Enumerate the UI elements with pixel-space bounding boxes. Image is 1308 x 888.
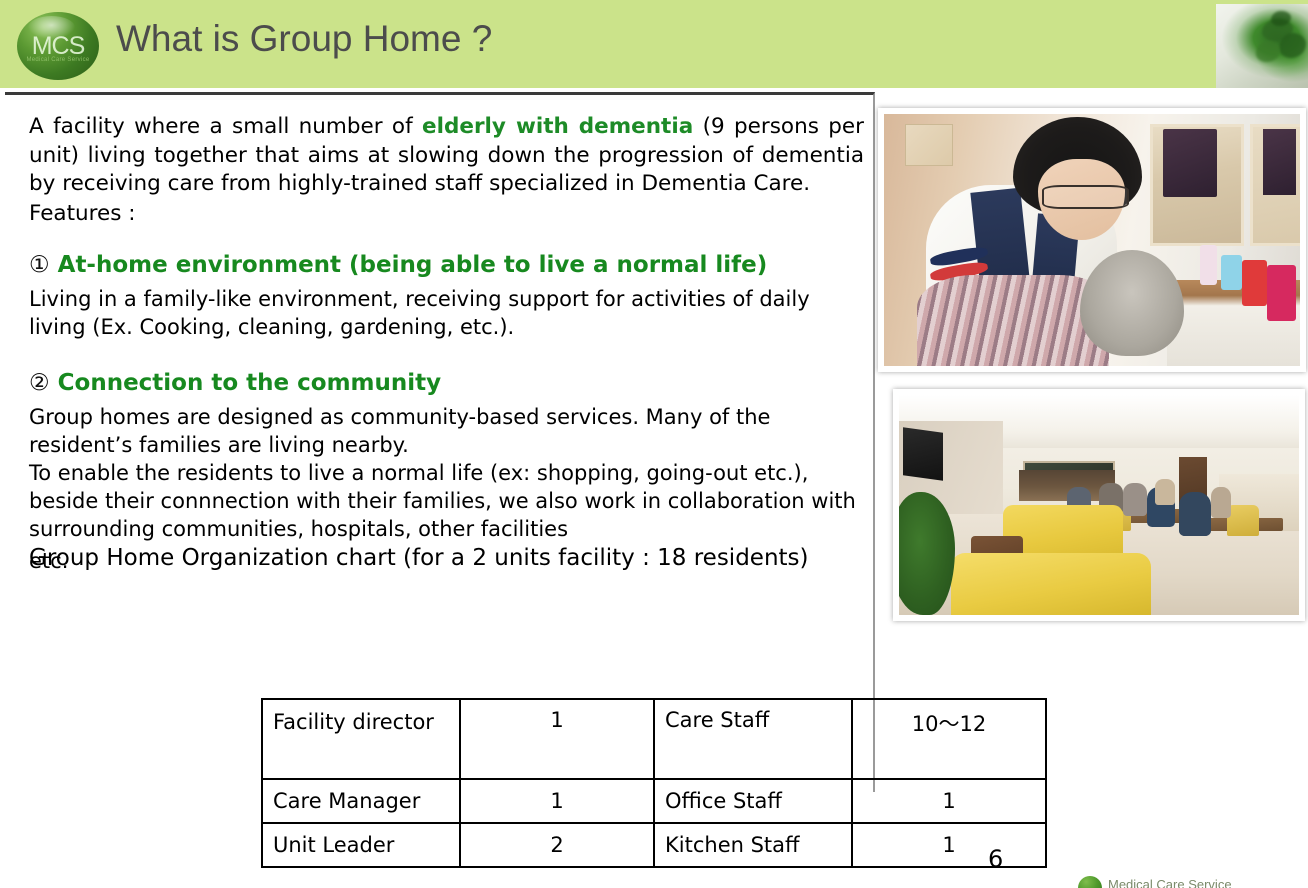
table-row: Unit Leader 2 Kitchen Staff 1: [262, 823, 1046, 867]
cell-count-right: 1: [852, 779, 1046, 823]
glasses-shape: [1042, 185, 1129, 209]
feature-2-number: ②: [29, 370, 50, 396]
logo-subtitle-text: Medical Care Service: [17, 57, 99, 63]
content-text-panel: A facility where a small number of elder…: [5, 92, 875, 792]
org-table-body: Facility director 1 Care Staff 10～12 Car…: [262, 699, 1046, 867]
feature-2-body-first: Group homes are designed as community-ba…: [29, 403, 864, 459]
green-herbs-photo: [1216, 4, 1308, 89]
towel-shape: [1163, 129, 1217, 197]
resident-figure: [1211, 487, 1231, 518]
footer-logo: Medical Care Service: [1078, 876, 1308, 888]
staff-figure: [1155, 479, 1175, 505]
cell-role-right: Kitchen Staff: [654, 823, 852, 867]
feature-2-heading: ② Connection to the community: [29, 363, 864, 403]
mcs-logo: MCS Medical Care Service: [17, 12, 99, 80]
content-text-inner: A facility where a small number of elder…: [29, 113, 864, 573]
org-chart-title: Group Home Organization chart (for a 2 u…: [29, 543, 809, 573]
feature-1-heading-text: At-home environment (being able to live …: [58, 252, 768, 278]
spacer: [29, 341, 864, 363]
intro-text-pre: A facility where a small number of: [29, 114, 422, 139]
feature-1-number: ①: [29, 252, 50, 278]
feature-1-body: Living in a family-like environment, rec…: [29, 285, 864, 341]
cell-role-left: Care Manager: [262, 779, 460, 823]
overlapping-text-group: etc. Group Home Organization chart (for …: [29, 543, 864, 573]
yellow-sofa-shape: [951, 553, 1151, 615]
wall-tv-shape: [903, 427, 943, 481]
page-number: 6: [988, 845, 1003, 873]
resident-figure: [1179, 492, 1211, 536]
intro-highlight: elderly with dementia: [422, 114, 693, 139]
resident-clothing-shape: [917, 275, 1108, 366]
footer-logo-text: Medical Care Service: [1108, 877, 1232, 888]
cell-count-left: 1: [460, 779, 654, 823]
cell-role-left: Unit Leader: [262, 823, 460, 867]
page-title: What is Group Home ?: [116, 18, 492, 60]
feature-1-heading: ① At-home environment (being able to liv…: [29, 245, 864, 285]
feature-2-body-second: To enable the residents to live a normal…: [29, 459, 864, 543]
table-row: Facility director 1 Care Staff 10～12: [262, 699, 1046, 779]
bottle-shape: [1267, 265, 1296, 320]
photo-1-image: [884, 114, 1300, 366]
footer-logo-ball-icon: [1078, 876, 1102, 888]
photo-2-image: [899, 395, 1299, 615]
cell-count-left: 1: [460, 699, 654, 779]
cell-count-right: 1: [852, 823, 1046, 867]
cell-count-left: 2: [460, 823, 654, 867]
page-header: MCS Medical Care Service What is Group H…: [0, 0, 1308, 90]
bottle-shape: [1200, 245, 1217, 285]
cell-count-right: 10～12: [852, 699, 1046, 779]
intro-paragraph: A facility where a small number of elder…: [29, 113, 864, 199]
bottle-shape: [1242, 260, 1267, 305]
bottle-shape: [1221, 255, 1242, 290]
group-home-living-room-photo: [893, 389, 1305, 621]
caregiver-assisting-resident-photo: [878, 108, 1306, 372]
table-row: Care Manager 1 Office Staff 1: [262, 779, 1046, 823]
cell-role-right: Office Staff: [654, 779, 852, 823]
potted-plant-shape: [899, 492, 955, 615]
spacer: [29, 227, 864, 245]
towel-shape: [1263, 129, 1296, 195]
cell-role-right: Care Staff: [654, 699, 852, 779]
resident-figure: [1123, 483, 1147, 516]
org-chart-table: Facility director 1 Care Staff 10～12 Car…: [261, 698, 1047, 868]
wall-art-shape: [905, 124, 953, 166]
feature-2-heading-text: Connection to the community: [58, 370, 442, 396]
cell-role-left: Facility director: [262, 699, 460, 779]
chair-shape: [1227, 505, 1259, 536]
features-label: Features :: [29, 199, 864, 227]
